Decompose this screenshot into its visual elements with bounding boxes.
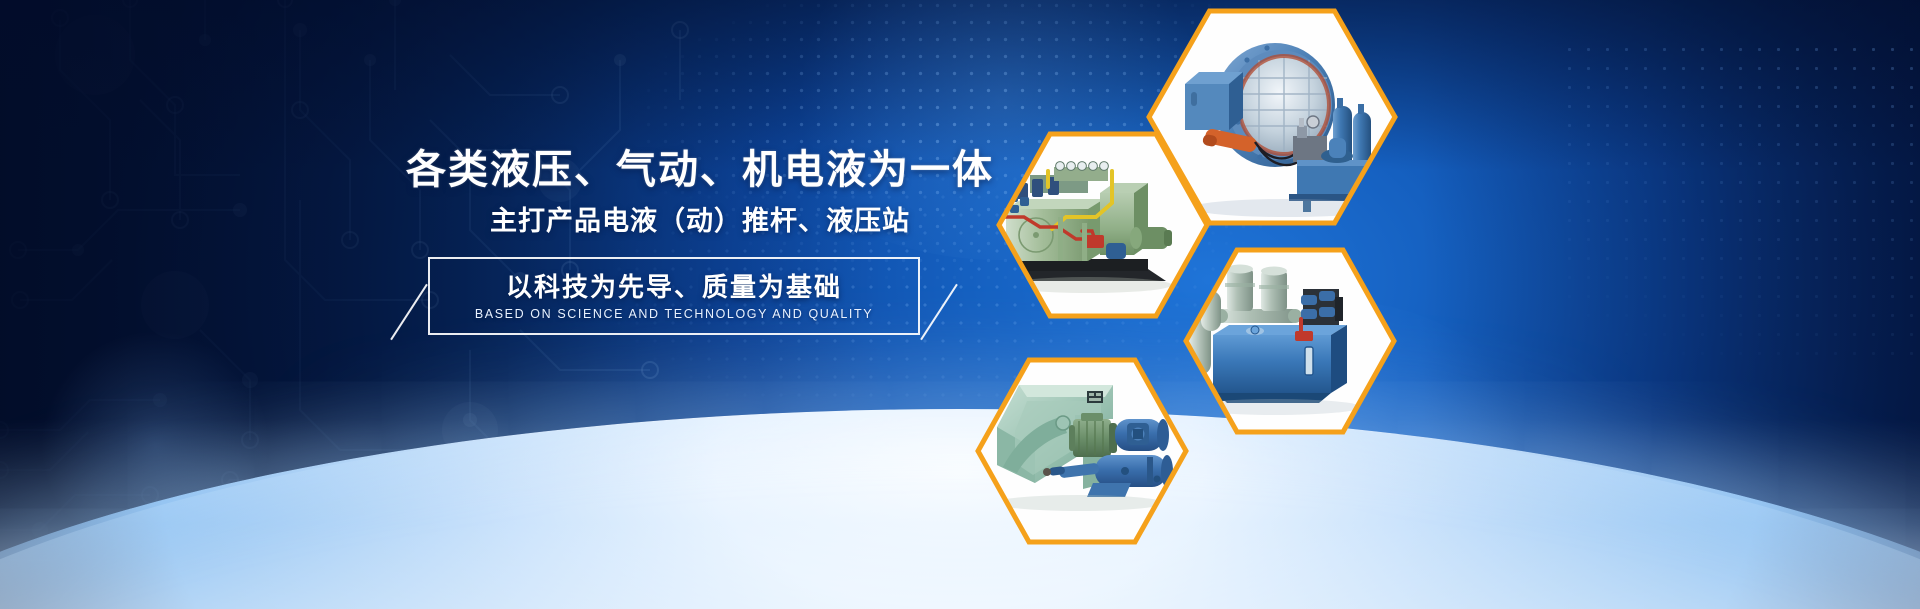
pump-station-photo bbox=[996, 131, 1210, 319]
push-rod-photo bbox=[975, 357, 1189, 545]
earth-haze bbox=[0, 419, 1920, 609]
halftone-dot-grid-right bbox=[1560, 40, 1920, 370]
hexagon-card-power-unit[interactable] bbox=[1183, 247, 1397, 435]
slogan-english: BASED ON SCIENCE AND TECHNOLOGY AND QUAL… bbox=[440, 308, 908, 321]
page-subtitle: 主打产品电液（动）推杆、液压站 bbox=[400, 208, 1000, 235]
page-title: 各类液压、气动、机电液为一体 bbox=[400, 150, 1000, 190]
hero-banner: 各类液压、气动、机电液为一体 主打产品电液（动）推杆、液压站 以科技为先导、质量… bbox=[0, 0, 1920, 609]
hexagon-card-pump-station[interactable] bbox=[996, 131, 1210, 319]
hexagon-card-push-rod[interactable] bbox=[975, 357, 1189, 545]
slogan-right-slash-decoration bbox=[920, 284, 958, 340]
slogan-box: 以科技为先导、质量为基础 BASED ON SCIENCE AND TECHNO… bbox=[428, 257, 920, 335]
slogan-chinese: 以科技为先导、质量为基础 bbox=[440, 273, 908, 302]
banner-text-block: 各类液压、气动、机电液为一体 主打产品电液（动）推杆、液压站 以科技为先导、质量… bbox=[400, 150, 1000, 335]
power-unit-photo bbox=[1183, 247, 1397, 435]
slogan-wrapper: 以科技为先导、质量为基础 BASED ON SCIENCE AND TECHNO… bbox=[428, 257, 920, 335]
